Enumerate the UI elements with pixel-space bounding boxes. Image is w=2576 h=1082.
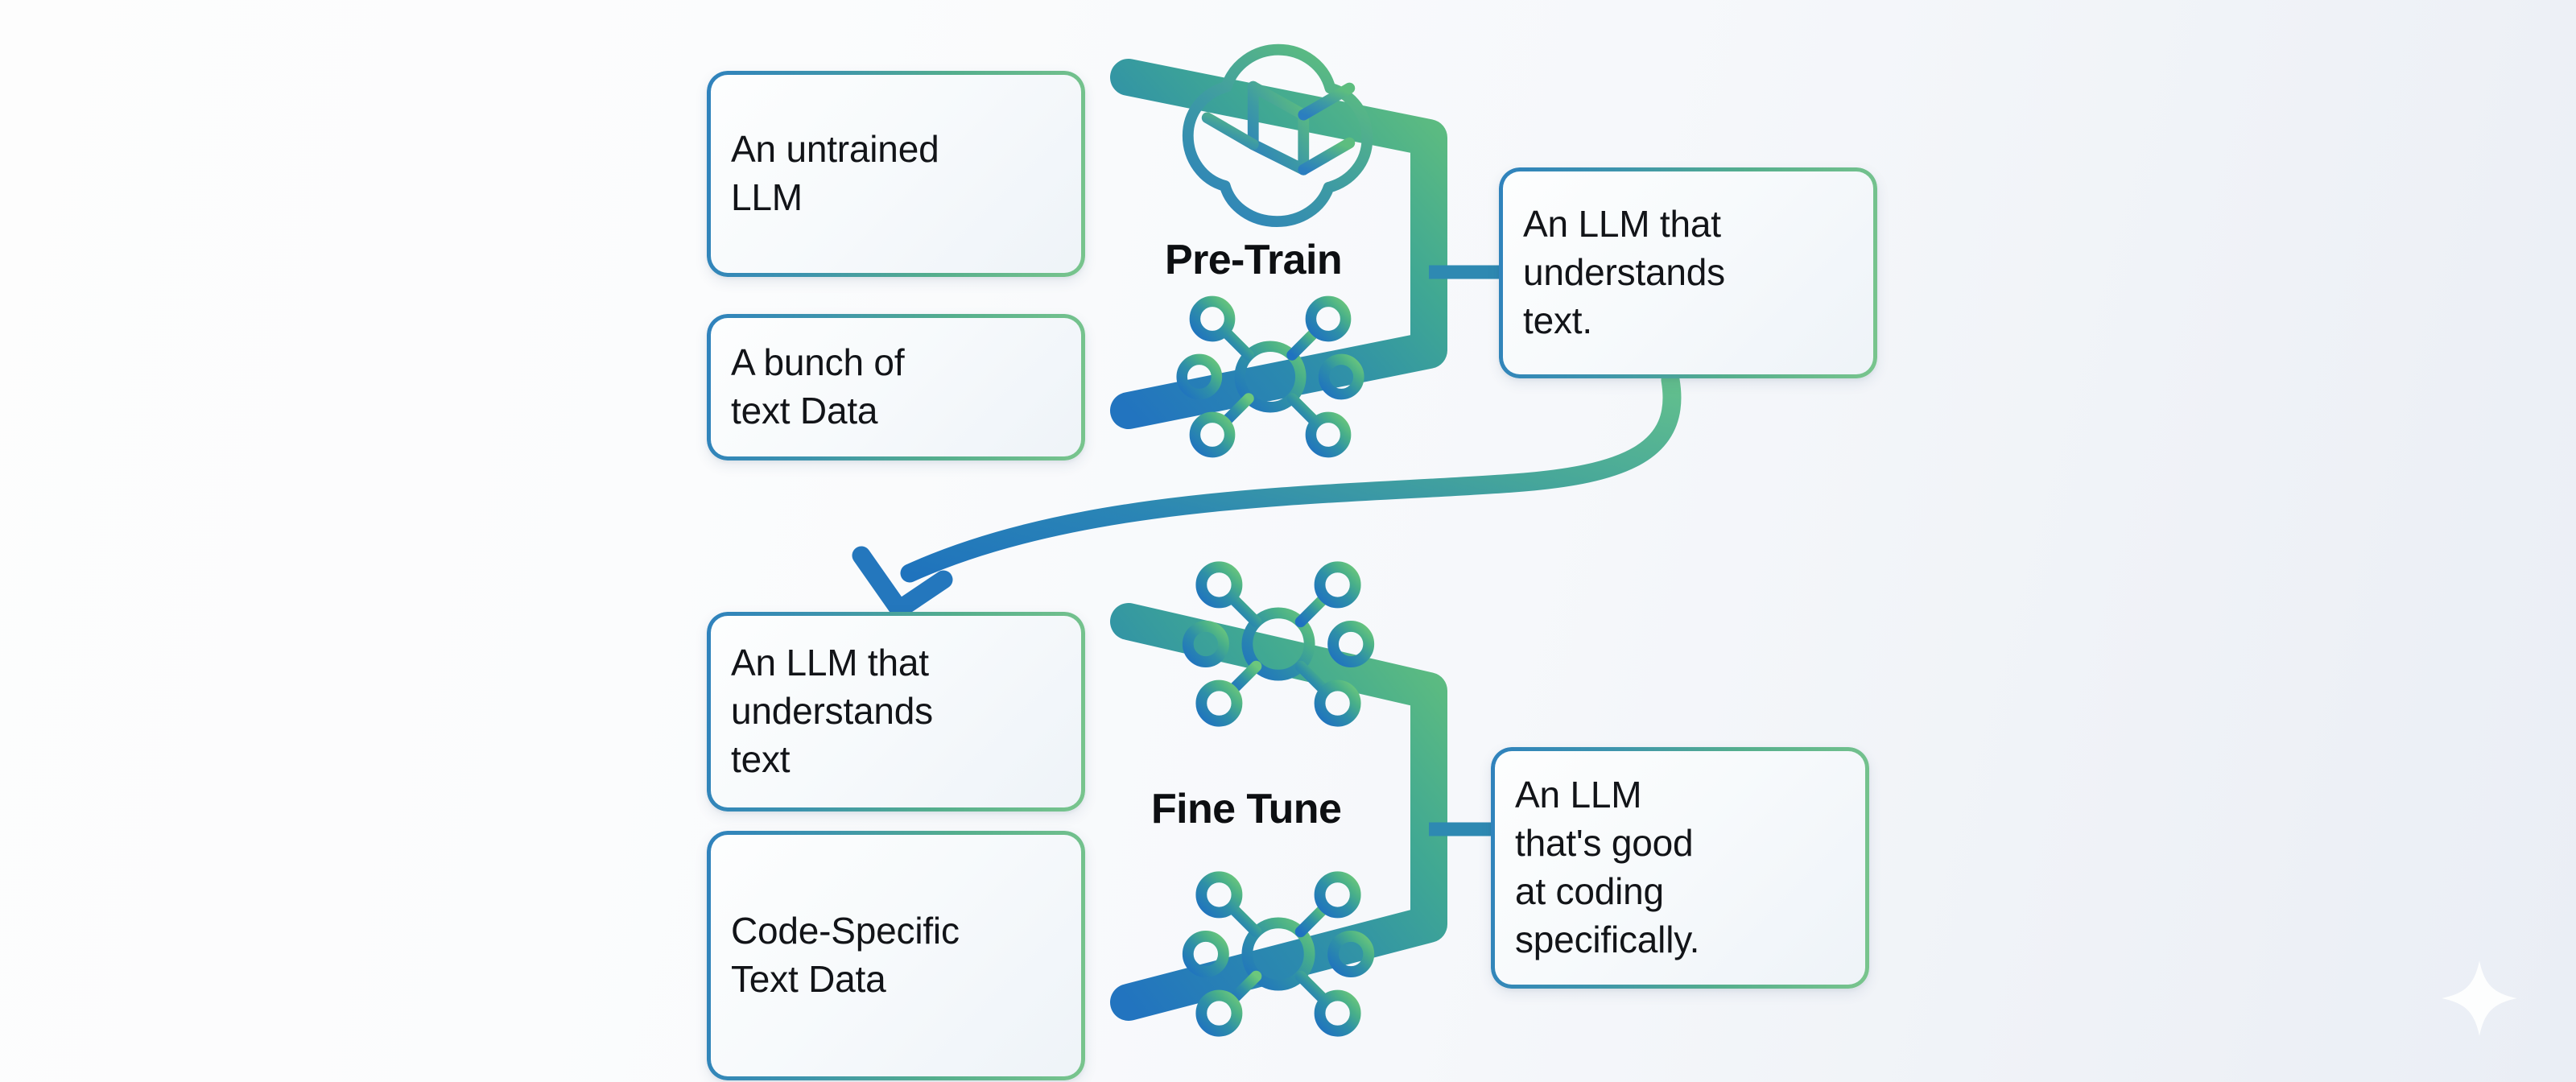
input-box-text-data[interactable]: A bunch of text Data bbox=[707, 314, 1085, 460]
output-box-llm-good-at-coding-text: An LLM that's good at coding specificall… bbox=[1515, 771, 1845, 964]
fine-tune-funnel bbox=[1129, 622, 1429, 1002]
sparkle-icon bbox=[2442, 960, 2517, 1036]
neural-node-icon bbox=[1182, 301, 1359, 452]
stage-label-pre-train: Pre-Train bbox=[1165, 236, 1342, 284]
output-box-llm-understands-text[interactable]: An LLM that understands text. bbox=[1499, 167, 1877, 378]
neural-node-icon-top bbox=[1188, 567, 1368, 721]
input-box-llm-understands-text[interactable]: An LLM that understands text bbox=[707, 612, 1085, 811]
diagram-graphics-layer bbox=[0, 0, 2576, 1082]
input-box-untrained-llm-text: An untrained LLM bbox=[731, 126, 1061, 222]
input-box-llm-understands-text-text: An LLM that understands text bbox=[731, 639, 1061, 783]
neural-node-icon-bottom bbox=[1188, 877, 1368, 1030]
input-box-untrained-llm[interactable]: An untrained LLM bbox=[707, 71, 1085, 277]
stage-label-fine-tune: Fine Tune bbox=[1151, 785, 1341, 833]
input-box-code-specific-data-text: Code-Specific Text Data bbox=[731, 907, 1061, 1004]
input-box-code-specific-data[interactable]: Code-Specific Text Data bbox=[707, 831, 1085, 1080]
diagram-canvas: Pre-Train Fine Tune An untrained LLM A b… bbox=[0, 0, 2576, 1082]
output-box-llm-good-at-coding[interactable]: An LLM that's good at coding specificall… bbox=[1491, 747, 1869, 989]
openai-logo-icon bbox=[1188, 50, 1368, 221]
pre-train-funnel bbox=[1129, 77, 1429, 411]
output-box-llm-understands-text-text: An LLM that understands text. bbox=[1523, 200, 1853, 345]
input-box-text-data-text: A bunch of text Data bbox=[731, 339, 1061, 436]
